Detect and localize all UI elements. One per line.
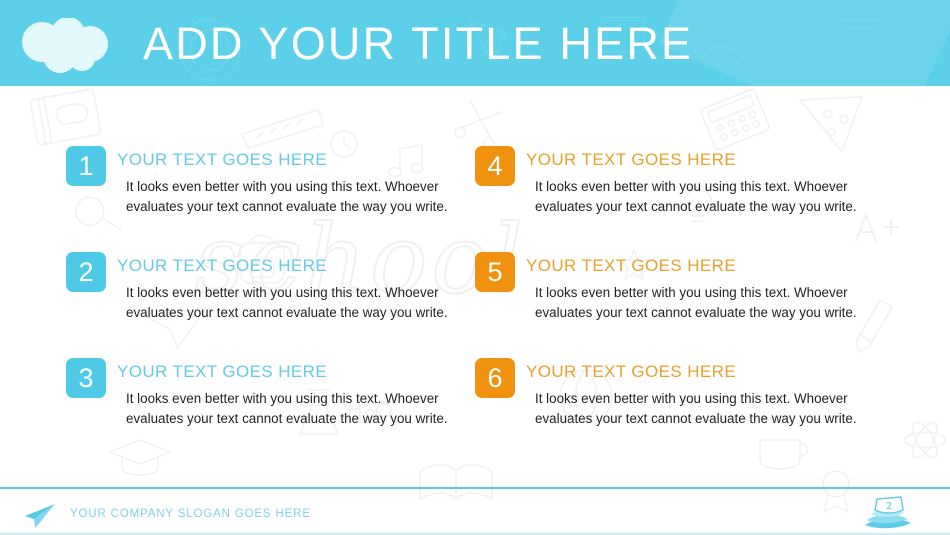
item-number-badge: 2 (66, 252, 106, 292)
slide: school ADD YOUR TITLE HERE (0, 0, 950, 535)
cloud-icon (14, 18, 124, 73)
stacked-papers-logo: 2 (857, 495, 919, 531)
item-body: It looks even better with you using this… (535, 283, 880, 322)
paper-plane-icon (22, 503, 56, 529)
item-heading: YOUR TEXT GOES HERE (526, 256, 736, 276)
company-slogan: YOUR COMPANY SLOGAN GOES HERE (70, 508, 311, 520)
brand-number: 2 (886, 501, 892, 512)
item-heading: YOUR TEXT GOES HERE (117, 150, 327, 170)
item-body: It looks even better with you using this… (126, 283, 471, 322)
item-body: It looks even better with you using this… (535, 177, 880, 216)
item-heading: YOUR TEXT GOES HERE (117, 256, 327, 276)
item-number-badge: 5 (475, 252, 515, 292)
slide-header: ADD YOUR TITLE HERE (0, 0, 950, 86)
item-body: It looks even better with you using this… (535, 389, 880, 428)
item-heading: YOUR TEXT GOES HERE (117, 362, 327, 382)
item-number-badge: 1 (66, 146, 106, 186)
item-heading: YOUR TEXT GOES HERE (526, 362, 736, 382)
item-heading: YOUR TEXT GOES HERE (526, 150, 736, 170)
footer-divider-top (0, 487, 950, 489)
page-title: ADD YOUR TITLE HERE (143, 17, 693, 70)
item-body: It looks even better with you using this… (126, 389, 471, 428)
item-number-badge: 3 (66, 358, 106, 398)
item-number-badge: 6 (475, 358, 515, 398)
item-number-badge: 4 (475, 146, 515, 186)
item-body: It looks even better with you using this… (126, 177, 471, 216)
content-area: 1 YOUR TEXT GOES HERE It looks even bett… (0, 86, 950, 482)
